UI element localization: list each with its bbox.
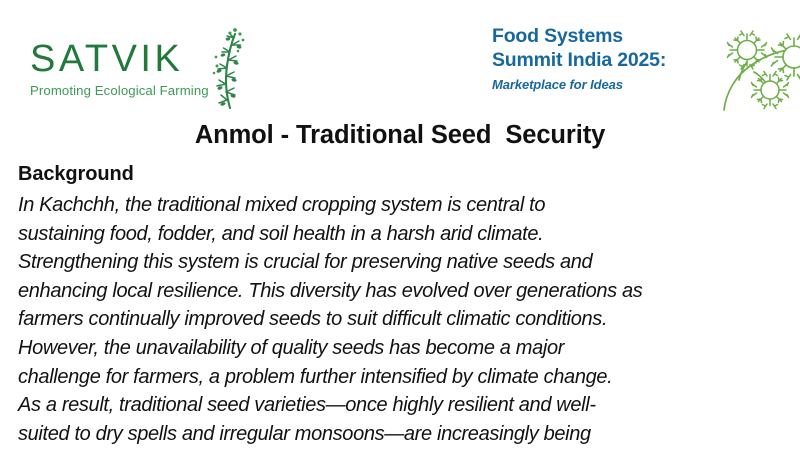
food-systems-summit-logo: Food Systems Summit India 2025: Marketpl… [492,25,800,118]
plant-sprig-icon [205,24,251,114]
satvik-logo-text: SATVIK Promoting Ecological Farming [30,26,209,98]
satvik-logo: SATVIK Promoting Ecological Farming [30,26,251,114]
paragraph-line: Strengthening this system is crucial for… [18,248,718,277]
paragraph-line: However, the unavailability of quality s… [18,334,718,363]
content-body: Background In Kachchh, the traditional m… [18,163,718,448]
dandelion-flowers-icon [714,22,800,118]
summit-title-line-2: Summit India 2025: [492,49,666,73]
paragraph-line: challenge for farmers, a problem further… [18,363,718,392]
satvik-tagline: Promoting Ecological Farming [30,83,209,98]
paragraph-line: farmers continually improved seeds to su… [18,305,718,334]
summit-title-line-1: Food Systems [492,25,623,49]
background-paragraph: In Kachchh, the traditional mixed croppi… [18,191,718,448]
presentation-slide: SATVIK Promoting Ecological Farming [0,0,800,450]
page-title: Anmol - Traditional Seed Security [0,121,800,150]
paragraph-line: enhancing local resilience. This diversi… [18,277,718,306]
section-heading-background: Background [18,163,718,185]
summit-logo-text: Food Systems Summit India 2025: Marketpl… [492,25,666,92]
paragraph-line: In Kachchh, the traditional mixed croppi… [18,191,718,220]
summit-subtitle: Marketplace for Ideas [492,77,623,92]
slide-header: SATVIK Promoting Ecological Farming [0,0,800,118]
paragraph-line: suited to dry spells and irregular monso… [18,420,718,449]
satvik-wordmark: SATVIK [30,40,183,78]
paragraph-line: As a result, traditional seed varieties—… [18,391,718,420]
paragraph-line: sustaining food, fodder, and soil health… [18,220,718,249]
